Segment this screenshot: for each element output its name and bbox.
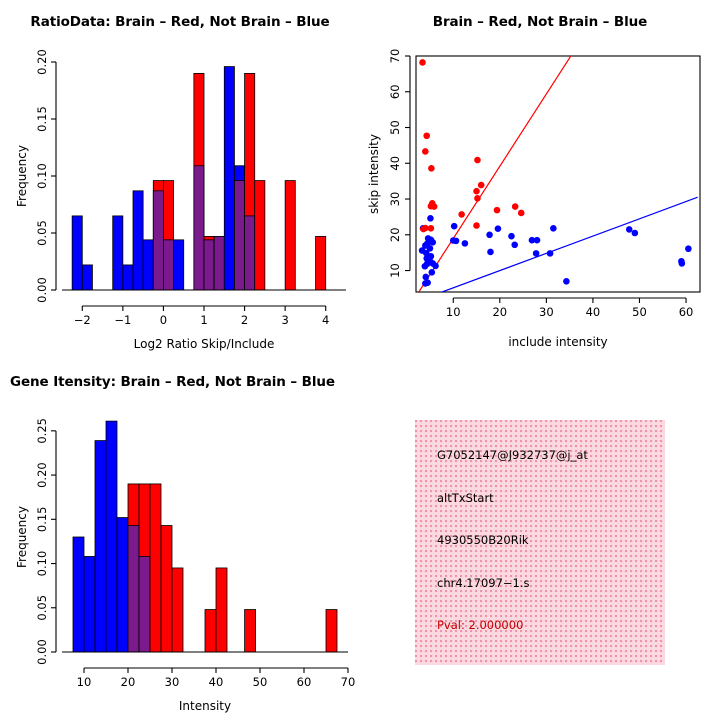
scatter-point — [422, 148, 429, 155]
x-axis-title: include intensity — [508, 335, 607, 349]
histogram-bar — [161, 526, 172, 653]
y-tick-label: 0.15 — [35, 106, 49, 132]
y-axis-title: Frequency — [15, 145, 29, 207]
scatter-point — [451, 223, 458, 230]
y-tick-label: 30 — [388, 192, 402, 207]
y-tick-label: 70 — [388, 49, 402, 64]
fit-line — [442, 197, 698, 292]
scatter-point — [518, 210, 525, 217]
y-axis-title: skip intensity — [367, 134, 381, 214]
histogram-bar — [285, 181, 295, 290]
histogram-bar — [72, 216, 82, 290]
x-tick-label: 50 — [253, 675, 268, 689]
histogram-bar — [245, 610, 256, 652]
panel-ratio-histogram: RatioData: Brain – Red, Not Brain – Blue… — [0, 0, 360, 360]
scatter-point — [422, 263, 429, 270]
y-tick-label: 10 — [388, 263, 402, 278]
y-tick-label: 0.05 — [35, 220, 49, 246]
scatter-point — [679, 260, 686, 267]
x-tick-label: 4 — [322, 313, 329, 327]
x-tick-label: 60 — [297, 675, 312, 689]
scatter-point — [432, 263, 439, 270]
scatter-point — [487, 249, 494, 256]
histogram-bar — [84, 556, 95, 652]
x-tick-label: 30 — [165, 675, 180, 689]
svg-gene-plot-area: 0.000.050.100.150.200.2510203040506070In… — [15, 418, 355, 713]
figure-page: RatioData: Brain – Red, Not Brain – Blue… — [0, 0, 720, 720]
x-tick-label: 50 — [632, 305, 647, 319]
scatter-point — [632, 230, 639, 237]
gene-symbol-text: 4930550B20Rik — [437, 535, 659, 547]
x-tick-label: 40 — [209, 675, 224, 689]
y-tick-label: 0.25 — [35, 418, 49, 444]
y-tick-label: 20 — [388, 227, 402, 242]
scatter-point — [423, 132, 430, 139]
plot-frame — [416, 56, 700, 292]
histogram-bar — [205, 610, 216, 652]
y-axis-title: Frequency — [15, 506, 29, 568]
x-tick-label: 20 — [121, 675, 136, 689]
scatter-point — [427, 215, 434, 222]
x-axis-title: Intensity — [179, 699, 231, 713]
histogram-bar-overlap — [234, 181, 244, 290]
x-tick-label: 10 — [446, 305, 461, 319]
y-tick-label: 0.15 — [35, 507, 49, 533]
fit-lines-group — [419, 51, 698, 292]
histogram-bar-overlap — [204, 240, 214, 290]
scatter-point — [429, 239, 436, 246]
event-type-text: altTxStart — [437, 493, 659, 505]
y-tick-label: 0.20 — [35, 462, 49, 488]
scatter-point — [508, 233, 515, 240]
scatter-point — [685, 245, 692, 252]
histogram-bar — [113, 216, 123, 290]
histogram-bar-overlap — [139, 556, 150, 652]
y-tick-label: 0.10 — [35, 551, 49, 577]
locus-text: chr4.17097−1.s — [437, 578, 659, 590]
scatter-point — [626, 226, 633, 233]
scatter-point — [547, 250, 554, 257]
scatter-point — [494, 207, 501, 214]
histogram-bar — [123, 265, 133, 290]
scatter-point — [429, 269, 436, 276]
gene-histogram-svg: 0.000.050.100.150.200.2510203040506070In… — [0, 360, 360, 720]
ratio-histogram-svg: 0.000.050.100.150.20−2−101234Log2 Ratio … — [0, 0, 360, 360]
histogram-bar — [150, 484, 161, 652]
y-tick-label: 60 — [388, 84, 402, 99]
histogram-bar — [95, 441, 106, 652]
scatter-point — [419, 59, 426, 66]
scatter-point — [563, 278, 570, 285]
x-tick-label: 1 — [200, 313, 207, 327]
y-tick-label: 0.10 — [35, 163, 49, 189]
histogram-bar — [316, 236, 326, 290]
scatter-point — [428, 225, 435, 232]
x-tick-label: 70 — [341, 675, 356, 689]
histogram-bar — [216, 568, 227, 652]
x-tick-label: 40 — [586, 305, 601, 319]
scatter-point — [486, 231, 493, 238]
svg-ratio-plot-area: 0.000.050.100.150.20−2−101234Log2 Ratio … — [15, 49, 346, 351]
histogram-bar — [82, 265, 92, 290]
y-tick-label: 0.05 — [35, 595, 49, 621]
histogram-bar — [224, 67, 234, 290]
scatter-point — [495, 225, 502, 232]
scatter-point — [422, 274, 429, 281]
x-tick-label: 30 — [539, 305, 554, 319]
histogram-bar-overlap — [128, 526, 139, 653]
scatter-point — [478, 182, 485, 189]
x-tick-label: 20 — [492, 305, 507, 319]
histogram-bar-overlap — [214, 236, 224, 290]
histogram-bar — [133, 191, 143, 290]
scatter-point — [462, 240, 469, 247]
x-tick-label: 2 — [241, 313, 248, 327]
probe-id-text: G7052147@J932737@j_at — [437, 450, 659, 462]
x-tick-label: 3 — [281, 313, 288, 327]
scatter-point — [428, 203, 435, 210]
histogram-bar-overlap — [245, 216, 255, 290]
scatter-point — [473, 222, 480, 229]
scatter-point — [533, 250, 540, 257]
scatter-point — [453, 238, 460, 245]
histogram-bar — [143, 240, 153, 290]
info-box: G7052147@J932737@j_at altTxStart 4930550… — [415, 420, 665, 665]
histogram-bar-overlap — [194, 166, 204, 290]
svg-scatter-plot-area: 10203040506070102030405060include intens… — [367, 49, 700, 349]
histogram-bar — [326, 610, 337, 652]
x-tick-label: 60 — [679, 305, 694, 319]
info-text-block: G7052147@J932737@j_at altTxStart 4930550… — [437, 450, 659, 632]
histogram-bar — [117, 518, 128, 652]
scatter-point — [473, 188, 480, 195]
x-tick-label: −2 — [74, 313, 91, 327]
x-tick-label: 10 — [77, 675, 92, 689]
y-tick-label: 50 — [388, 120, 402, 135]
histogram-bar-overlap — [153, 191, 163, 290]
scatter-point — [511, 242, 518, 249]
scatter-point — [534, 237, 541, 244]
histogram-bar — [106, 421, 117, 652]
scatter-point — [512, 203, 519, 210]
y-tick-label: 40 — [388, 156, 402, 171]
y-tick-label: 0.00 — [35, 639, 49, 665]
scatter-point — [424, 279, 431, 286]
scatter-point — [474, 195, 481, 202]
histogram-bar-overlap — [163, 240, 173, 290]
scatter-svg: 10203040506070102030405060include intens… — [360, 0, 720, 360]
histogram-bar — [255, 181, 265, 290]
y-tick-label: 0.20 — [35, 49, 49, 75]
x-tick-label: −1 — [114, 313, 131, 327]
panel-scatter: Brain – Red, Not Brain – Blue 1020304050… — [360, 0, 720, 360]
pval-text: Pval: 2.000000 — [437, 620, 659, 632]
x-axis-title: Log2 Ratio Skip/Include — [134, 337, 275, 351]
x-tick-label: 0 — [160, 313, 167, 327]
scatter-point — [550, 225, 557, 232]
histogram-bar — [172, 568, 183, 652]
histogram-bar — [73, 537, 84, 652]
scatter-point — [428, 165, 435, 172]
y-tick-label: 0.00 — [35, 277, 49, 303]
histogram-bar — [174, 240, 184, 290]
panel-gene-histogram: Gene Itensity: Brain – Red, Not Brain – … — [0, 360, 360, 720]
panel-info: G7052147@J932737@j_at altTxStart 4930550… — [360, 360, 720, 720]
scatter-point — [458, 211, 465, 218]
scatter-point — [474, 157, 481, 164]
